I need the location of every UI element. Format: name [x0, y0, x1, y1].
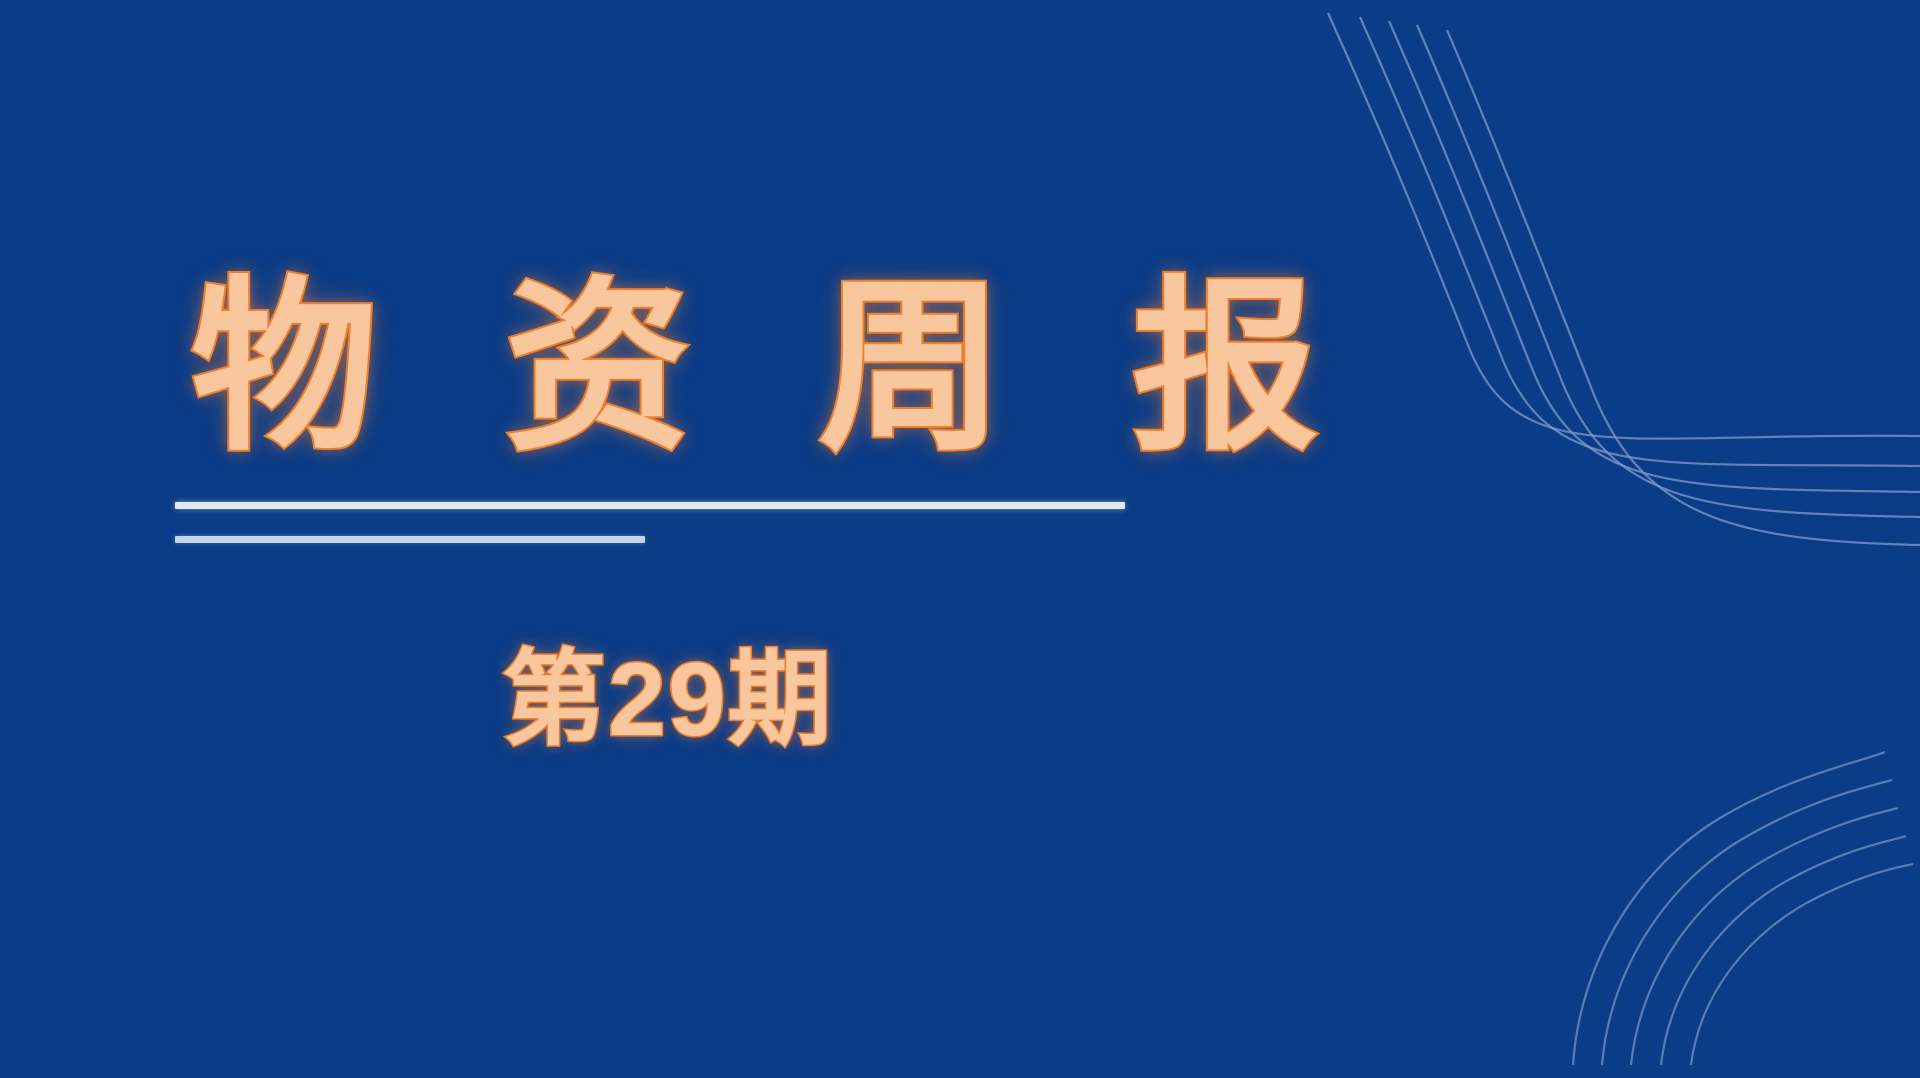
subtitle-block: 第29期 — [502, 648, 834, 752]
title-slide: 物 资 周 报 第29期 — [0, 0, 1920, 1078]
issue-subtitle: 第29期 — [502, 648, 834, 752]
divider-rule-long — [175, 502, 1125, 509]
page-title: 物 资 周 报 — [175, 276, 1175, 462]
title-block: 物 资 周 报 — [175, 276, 1175, 462]
divider-rule-short — [175, 536, 645, 543]
